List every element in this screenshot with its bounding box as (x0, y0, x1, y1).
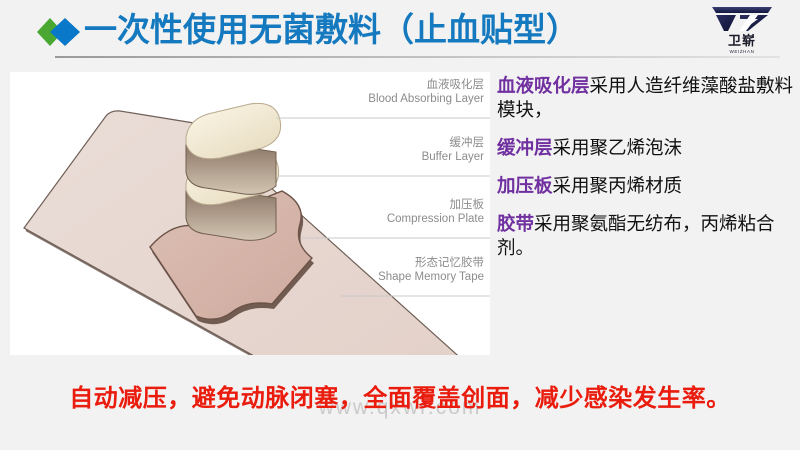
callout-label-cn: 血液吸化层 (368, 78, 484, 92)
explanation-paragraph-2: 缓冲层采用聚乙烯泡沫 (497, 136, 797, 160)
callout-label-group: 血液吸化层 Blood Absorbing Layer 缓冲层 Buffer L… (250, 72, 490, 355)
callout-label-cn: 加压板 (387, 198, 484, 212)
callout-label-en: Compression Plate (387, 212, 484, 226)
explanation-body: 采用聚丙烯材质 (553, 175, 683, 196)
logo-name-en: WEIZHAN (706, 48, 778, 55)
logo-name-cn: 卫崭 (706, 34, 778, 48)
callout-label-cn: 形态记忆胶带 (378, 256, 484, 270)
explanation-paragraph-1: 血液吸化层采用人造纤维藻酸盐敷料模块， (497, 74, 797, 122)
explanation-key-term: 胶带 (497, 213, 534, 234)
explanation-body: 采用聚乙烯泡沫 (553, 137, 683, 158)
slide-root: 一次性使用无菌敷料（止血贴型） 卫崭 (0, 0, 800, 450)
header-divider (55, 56, 780, 58)
explanation-body: 采用聚氨酯无纺布，丙烯粘合剂。 (497, 213, 775, 258)
explanation-key-term: 血液吸化层 (497, 75, 590, 96)
explanation-key-term: 缓冲层 (497, 137, 553, 158)
callout-label-en: Blood Absorbing Layer (368, 92, 484, 106)
callout-shape-memory-tape: 形态记忆胶带 Shape Memory Tape (378, 256, 484, 284)
callout-compression-plate: 加压板 Compression Plate (387, 198, 484, 226)
diamond-icon (36, 17, 82, 47)
callout-label-cn: 缓冲层 (422, 136, 484, 150)
callout-buffer-layer: 缓冲层 Buffer Layer (422, 136, 484, 164)
bottom-caption: 自动减压，避免动脉闭塞，全面覆盖创面，减少感染发生率。 (0, 378, 800, 413)
callout-label-en: Shape Memory Tape (378, 270, 484, 284)
brand-logo: 卫崭 WEIZHAN (706, 4, 778, 56)
explanation-paragraph-4: 胶带采用聚氨酯无纺布，丙烯粘合剂。 (497, 212, 797, 260)
explanation-paragraph-3: 加压板采用聚丙烯材质 (497, 174, 797, 198)
explanation-key-term: 加压板 (497, 175, 553, 196)
callout-blood-absorbing-layer: 血液吸化层 Blood Absorbing Layer (368, 78, 484, 106)
weizhan-logo-icon (706, 4, 778, 34)
page-title: 一次性使用无菌敷料（止血贴型） (84, 8, 579, 52)
callout-label-en: Buffer Layer (422, 150, 484, 164)
slide-header: 一次性使用无菌敷料（止血贴型） 卫崭 (0, 0, 800, 60)
explanation-text-block: 血液吸化层采用人造纤维藻酸盐敷料模块， 缓冲层采用聚乙烯泡沫 加压板采用聚丙烯材… (497, 74, 797, 274)
